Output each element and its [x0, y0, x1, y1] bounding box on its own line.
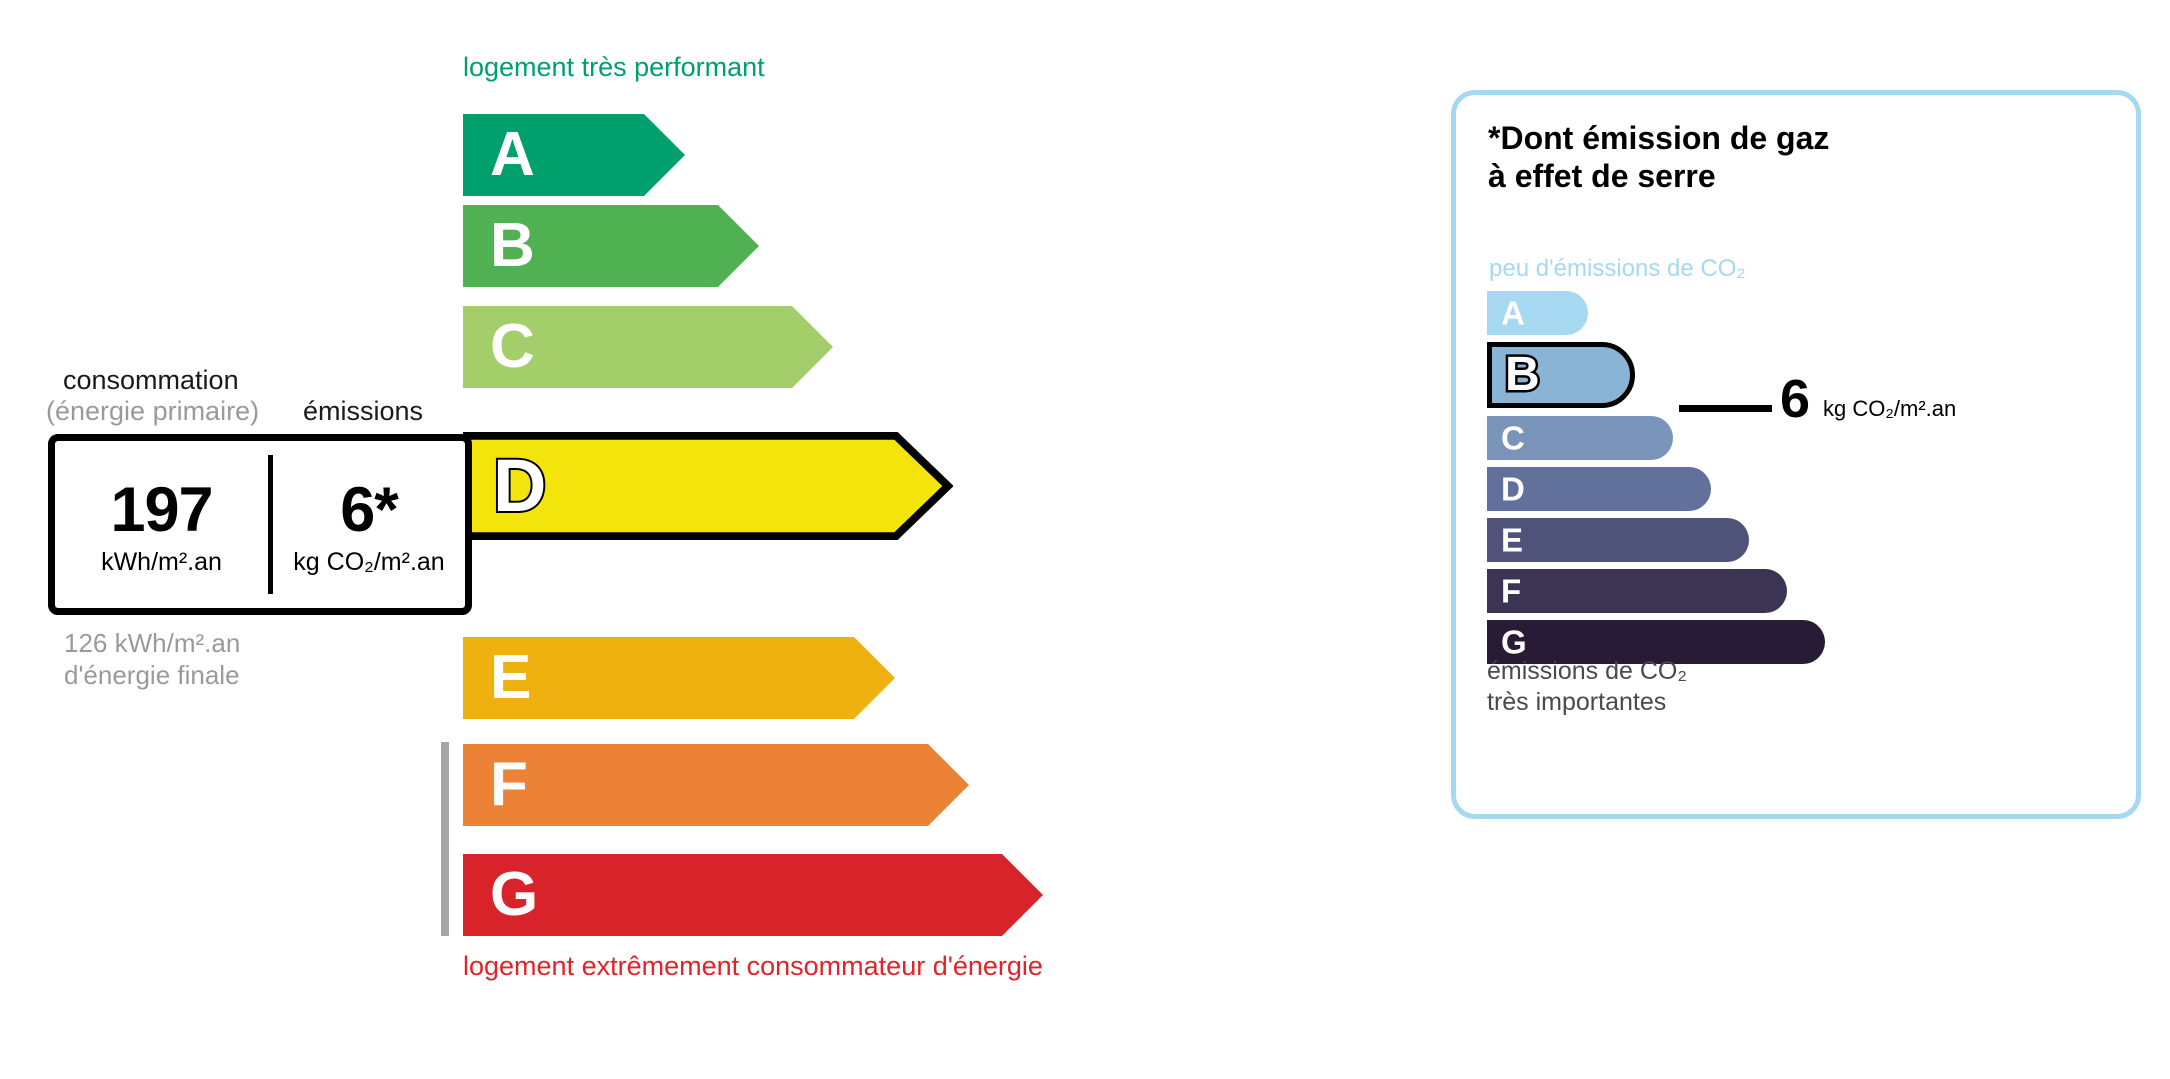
ges-grade-row-c[interactable]: C: [1487, 416, 1673, 460]
energy-grade-letter-d: D: [493, 449, 546, 523]
ges-bottom-line-1: émissions de CO₂: [1487, 656, 1687, 687]
ges-title-line-1: *Dont émission de gaz: [1488, 119, 1829, 157]
ges-grade-letter-d: D: [1501, 473, 1525, 506]
energy-performance-chart: logement très performant A B C D E: [0, 0, 1380, 1079]
ges-grade-row-d[interactable]: D: [1487, 467, 1711, 511]
energy-grade-letter-e: E: [490, 647, 531, 709]
energy-arrow-g: [463, 854, 1043, 936]
ges-grade-letter-e: E: [1501, 524, 1523, 557]
ges-grade-row-a[interactable]: A: [1487, 291, 1588, 335]
energy-grade-row-e[interactable]: E: [463, 637, 895, 719]
energy-grade-letter-g: G: [490, 864, 538, 926]
energy-bottom-caption: logement extrêmement consommateur d'éner…: [463, 951, 1043, 982]
energy-top-caption: logement très performant: [463, 52, 765, 83]
ges-callout-line: [1679, 405, 1772, 412]
emission-cell: 6* kg CO₂/m².an: [273, 441, 465, 608]
passoire-energetique-bar: [441, 742, 449, 936]
ges-grade-row-b[interactable]: B: [1487, 342, 1635, 408]
energy-grade-row-d[interactable]: D: [463, 432, 953, 540]
ges-grade-letter-g: G: [1501, 626, 1527, 659]
energy-arrow-f: [463, 744, 969, 826]
label-energie-primaire: (énergie primaire): [46, 396, 259, 427]
ges-grade-row-f[interactable]: F: [1487, 569, 1787, 613]
emission-unit: kg CO₂/m².an: [293, 548, 444, 577]
ges-grade-letter-b: B: [1505, 351, 1540, 399]
ges-callout-unit: kg CO₂/m².an: [1823, 398, 1956, 420]
energy-grade-row-b[interactable]: B: [463, 205, 759, 287]
energy-grade-letter-a: A: [490, 124, 535, 186]
energy-grade-row-f[interactable]: F: [463, 744, 969, 826]
ges-panel: *Dont émission de gaz à effet de serre p…: [1451, 90, 2141, 819]
ges-grade-row-e[interactable]: E: [1487, 518, 1749, 562]
ges-grade-letter-a: A: [1501, 297, 1525, 330]
ges-grade-letter-c: C: [1501, 422, 1525, 455]
final-energy-value: 126 kWh/m².an: [64, 627, 240, 659]
ges-bottom-line-2: très importantes: [1487, 687, 1687, 718]
ges-grade-letter-f: F: [1501, 575, 1521, 608]
energy-grade-letter-b: B: [490, 215, 535, 277]
primary-energy-unit: kWh/m².an: [101, 548, 222, 577]
ges-bottom-caption: émissions de CO₂ très importantes: [1487, 656, 1687, 717]
final-energy-note: 126 kWh/m².an d'énergie finale: [64, 627, 240, 691]
emission-value: 6*: [340, 479, 398, 542]
label-consommation: consommation: [63, 365, 239, 396]
primary-energy-cell: 197 kWh/m².an: [55, 441, 268, 608]
ges-bar-e: [1487, 518, 1749, 562]
energy-grade-letter-f: F: [490, 754, 528, 816]
ges-callout-value: 6: [1780, 372, 1810, 426]
energy-grade-row-g[interactable]: G: [463, 854, 1043, 936]
ges-top-caption: peu d'émissions de CO₂: [1489, 255, 1746, 283]
ges-bar-f: [1487, 569, 1787, 613]
ges-title-line-2: à effet de serre: [1488, 157, 1829, 195]
energy-grade-letter-c: C: [490, 316, 535, 378]
value-box: 197 kWh/m².an 6* kg CO₂/m².an: [48, 434, 472, 615]
energy-grade-row-c[interactable]: C: [463, 306, 833, 388]
ges-panel-title: *Dont émission de gaz à effet de serre: [1488, 119, 1829, 196]
energy-grade-row-a[interactable]: A: [463, 114, 685, 196]
label-emissions: émissions: [303, 396, 423, 427]
final-energy-label: d'énergie finale: [64, 659, 240, 691]
primary-energy-value: 197: [110, 479, 212, 542]
